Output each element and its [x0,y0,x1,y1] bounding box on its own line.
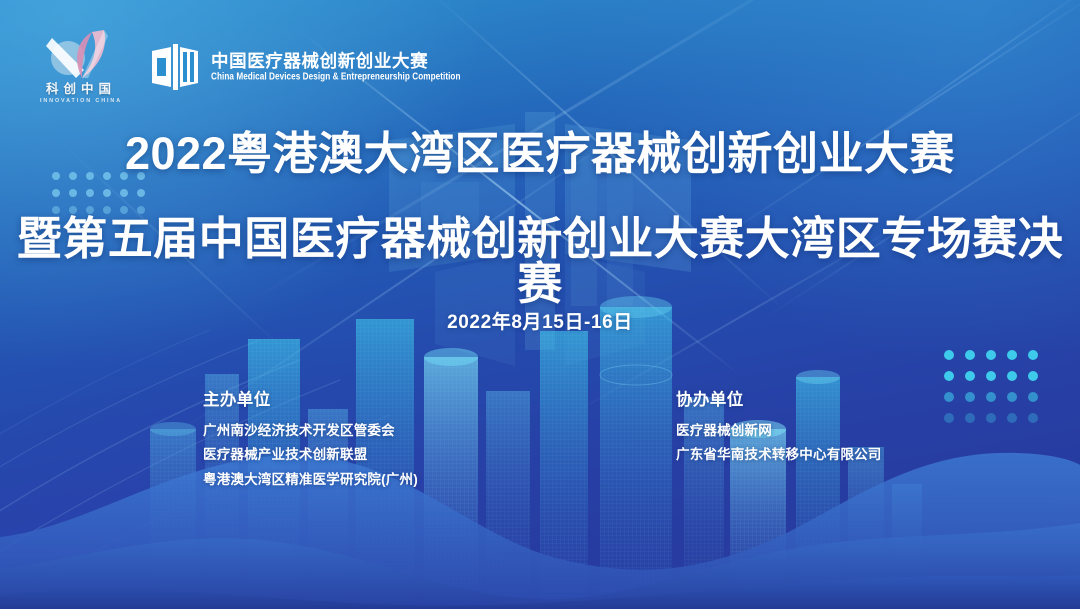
host-item: 医疗器械产业技术创新联盟 [203,448,418,462]
header-logo-group: 科创中国 INNOVATION CHINA 中国医疗器械创新创业大赛 China… [38,26,461,108]
innovation-china-logo: 科创中国 INNOVATION CHINA [38,26,124,108]
host-organizers: 主办单位 广州南沙经济技术开发区管委会 医疗器械产业技术创新联盟 粤港澳大湾区精… [203,392,418,486]
open-door-book-icon [150,42,200,92]
competition-name-cn: 中国医疗器械创新创业大赛 [211,53,461,71]
host-item: 广州南沙经济技术开发区管委会 [203,424,418,438]
innovation-china-en: INNOVATION CHINA [40,99,122,104]
co-host-item: 广东省华南技术转移中心有限公司 [676,448,882,462]
innovation-china-cn: 科创中国 [46,83,116,96]
page-title-line2: 暨第五届中国医疗器械创新创业大赛大湾区专场赛决赛 [0,216,1080,306]
competition-name-en: China Medical Devices Design & Entrepren… [211,72,461,82]
host-heading: 主办单位 [203,392,418,409]
co-host-organizers: 协办单位 医疗器械创新网 广东省华南技术转移中心有限公司 [676,392,882,462]
event-poster: 科创中国 INNOVATION CHINA 中国医疗器械创新创业大赛 China… [0,0,1080,609]
bird-swoosh-icon [42,26,120,82]
co-host-heading: 协办单位 [676,392,882,409]
event-date: 2022年8月15日-16日 [0,313,1080,332]
host-item: 粤港澳大湾区精准医学研究院(广州) [203,473,418,487]
competition-logo: 中国医疗器械创新创业大赛 China Medical Devices Desig… [150,42,461,92]
page-title-line1: 2022粤港澳大湾区医疗器械创新创业大赛 [0,131,1080,176]
co-host-item: 医疗器械创新网 [676,424,882,438]
